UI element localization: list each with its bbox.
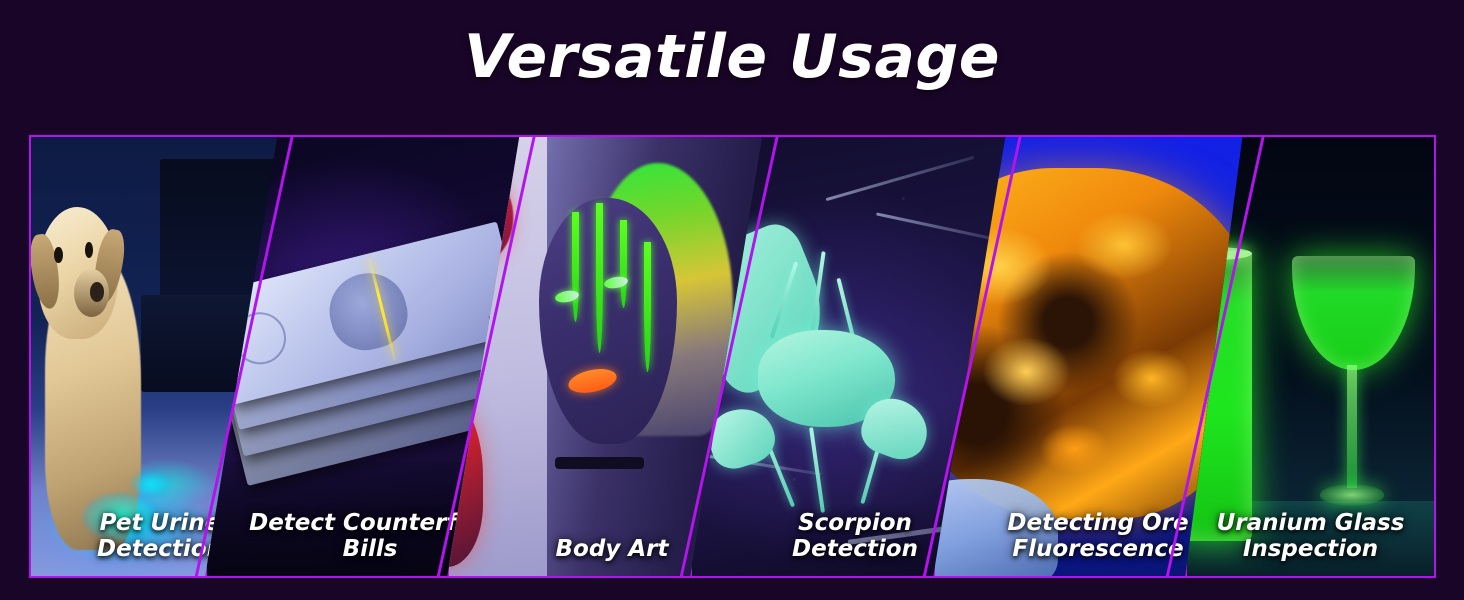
dog-nose-shape	[90, 282, 104, 302]
uranium-coupe-stem-shape	[1347, 365, 1357, 488]
choker-shape	[555, 457, 644, 468]
banknote-portrait-shape	[322, 265, 416, 357]
page-title: Versatile Usage	[0, 26, 1464, 89]
urine-stain-glow-secondary	[131, 471, 169, 497]
panel-caption: Uranium Glass Inspection	[1187, 510, 1434, 562]
uranium-coupe-bowl-shape	[1292, 256, 1415, 370]
paint-drip-shape	[572, 212, 579, 322]
paint-drip-shape	[596, 203, 603, 353]
usage-panel-strip: Pet Urine Detection 50 50 Detect Counter…	[0, 135, 1464, 578]
uranium-coupe-foot-shape	[1320, 484, 1384, 506]
dog-eye-left-shape	[54, 247, 62, 263]
versatile-usage-banner: Versatile Usage Pet Urine Detection	[0, 0, 1464, 600]
painted-face-shape	[539, 198, 676, 444]
